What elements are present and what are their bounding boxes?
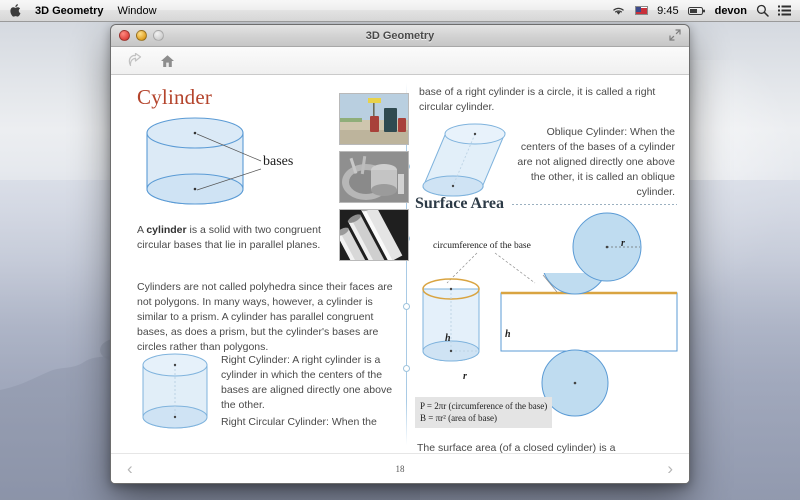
formula-base-area: B = πr² (area of base) — [420, 412, 547, 424]
photo-strip — [339, 93, 409, 267]
page-number: 18 — [396, 464, 405, 474]
label-r-cylinder: r — [463, 371, 467, 382]
section-title-text: Surface Area — [415, 195, 504, 213]
section-rule — [512, 204, 677, 205]
previous-page-button[interactable]: ‹ — [127, 460, 133, 477]
formula-perimeter: P = 2πr (circumference of the base) — [420, 400, 547, 412]
menu-clock[interactable]: 9:45 — [657, 5, 678, 17]
page-content: Cylinder — [111, 75, 689, 453]
us-flag-icon[interactable] — [635, 6, 648, 15]
menu-bar: 3D Geometry Window 9:45 devon — [0, 0, 800, 22]
home-icon[interactable] — [160, 54, 175, 68]
label-bases: bases — [263, 154, 293, 170]
window-titlebar[interactable]: 3D Geometry — [111, 25, 689, 47]
search-icon[interactable] — [756, 4, 769, 17]
spine-dot — [403, 303, 410, 310]
paragraph-right-cylinder: Right Cylinder: A right cylinder is a cy… — [221, 353, 403, 413]
figure-right-cylinder — [135, 351, 217, 444]
apple-logo-icon — [9, 4, 21, 18]
formula-box: P = 2πr (circumference of the base) B = … — [415, 397, 552, 428]
menu-app-name[interactable]: 3D Geometry — [35, 5, 103, 17]
window-toolbar — [111, 47, 689, 75]
photo-barrels — [339, 93, 409, 145]
page-navigation-bar: ‹ 18 › — [111, 453, 689, 483]
battery-icon[interactable] — [688, 6, 706, 16]
left-column: Cylinder — [129, 75, 409, 110]
def-term: cylinder — [146, 224, 186, 236]
document-page: Cylinder — [111, 75, 689, 483]
paragraph-continued: base of a right cylinder is a circle, it… — [419, 85, 669, 115]
spine-dot — [403, 365, 410, 372]
caption-circumference: circumference of the base — [433, 241, 531, 251]
paragraph-polyhedra: Cylinders are not called polyhedra since… — [137, 280, 402, 355]
back-arrow-icon[interactable] — [127, 53, 144, 68]
photo-rolls — [339, 209, 409, 261]
window-controls — [111, 30, 164, 41]
paragraph-oblique: Oblique Cylinder: When the centers of th… — [515, 125, 675, 200]
menu-user[interactable]: devon — [715, 5, 747, 17]
def-lead: A — [137, 224, 146, 236]
close-button[interactable] — [119, 30, 130, 41]
wifi-icon[interactable] — [611, 5, 626, 16]
paragraph-right-circular-partial: Right Circular Cylinder: When the — [221, 415, 403, 430]
zoom-button — [153, 30, 164, 41]
label-h-cylinder: h — [445, 333, 451, 344]
menu-window[interactable]: Window — [117, 5, 156, 17]
list-menu-icon[interactable] — [778, 5, 791, 16]
figure-cylinder-bases — [135, 115, 325, 220]
window-title: 3D Geometry — [111, 30, 689, 42]
next-page-button[interactable]: › — [667, 460, 673, 477]
photo-pots — [339, 151, 409, 203]
fullscreen-icon[interactable] — [669, 29, 689, 43]
definition-paragraph: A cylinder is a solid with two congruent… — [137, 223, 327, 253]
label-r-circle: r — [621, 238, 625, 249]
figure-base-circle-r — [561, 207, 653, 290]
minimize-button[interactable] — [136, 30, 147, 41]
label-h-rectangle: h — [505, 329, 511, 340]
app-window: 3D Geometry — [110, 24, 690, 484]
apple-logo-icon[interactable] — [9, 4, 21, 18]
